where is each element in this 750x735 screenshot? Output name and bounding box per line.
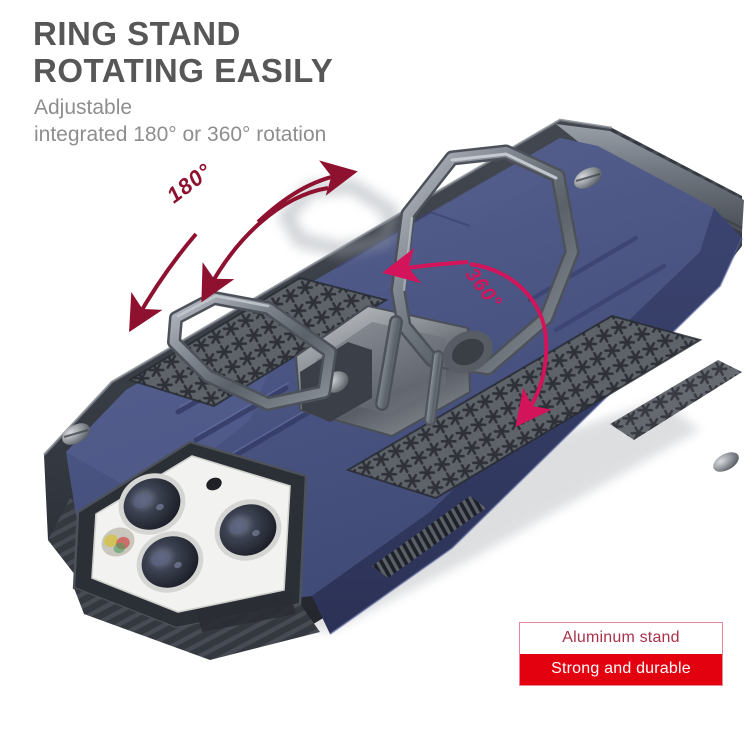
headline-line-2: ROTATING EASILY (33, 52, 453, 89)
ring-motion-blur-ghost (286, 186, 392, 250)
page-subtitle: Adjustable integrated 180° or 360° rotat… (34, 94, 464, 148)
badge-label-aluminum-stand: Aluminum stand (520, 623, 722, 654)
product-feature-image: RING STAND ROTATING EASILY Adjustable in… (0, 0, 750, 735)
badge-label-strong-and-durable: Strong and durable (520, 654, 722, 685)
headline-line-1: RING STAND (33, 15, 453, 52)
subtitle-line-2: integrated 180° or 360° rotation (34, 121, 464, 148)
subtitle-line-1: Adjustable (34, 94, 464, 121)
page-title: RING STAND ROTATING EASILY (33, 15, 453, 89)
status-badge: Aluminum stand Strong and durable (519, 622, 723, 686)
